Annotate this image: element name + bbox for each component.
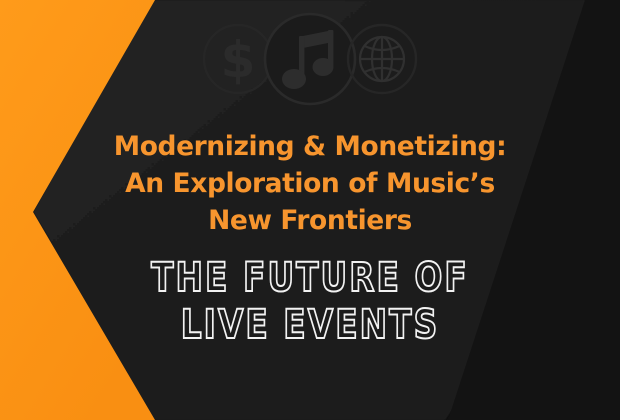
subhead-line-2: Live Events bbox=[105, 302, 515, 349]
headline-block: Modernizing & Monetizing: An Exploration… bbox=[75, 128, 545, 239]
subhead-line-1: The Future of bbox=[105, 255, 515, 302]
subhead-block: The Future of Live Events bbox=[60, 255, 560, 349]
headline-line-1: Modernizing & Monetizing: bbox=[75, 128, 545, 165]
headline-line-3: New Frontiers bbox=[75, 202, 545, 239]
headline: Modernizing & Monetizing: An Exploration… bbox=[75, 128, 545, 239]
title-card: $ Moderniz bbox=[0, 0, 620, 420]
headline-line-2: An Exploration of Music’s bbox=[75, 165, 545, 202]
subhead: The Future of Live Events bbox=[105, 255, 515, 349]
